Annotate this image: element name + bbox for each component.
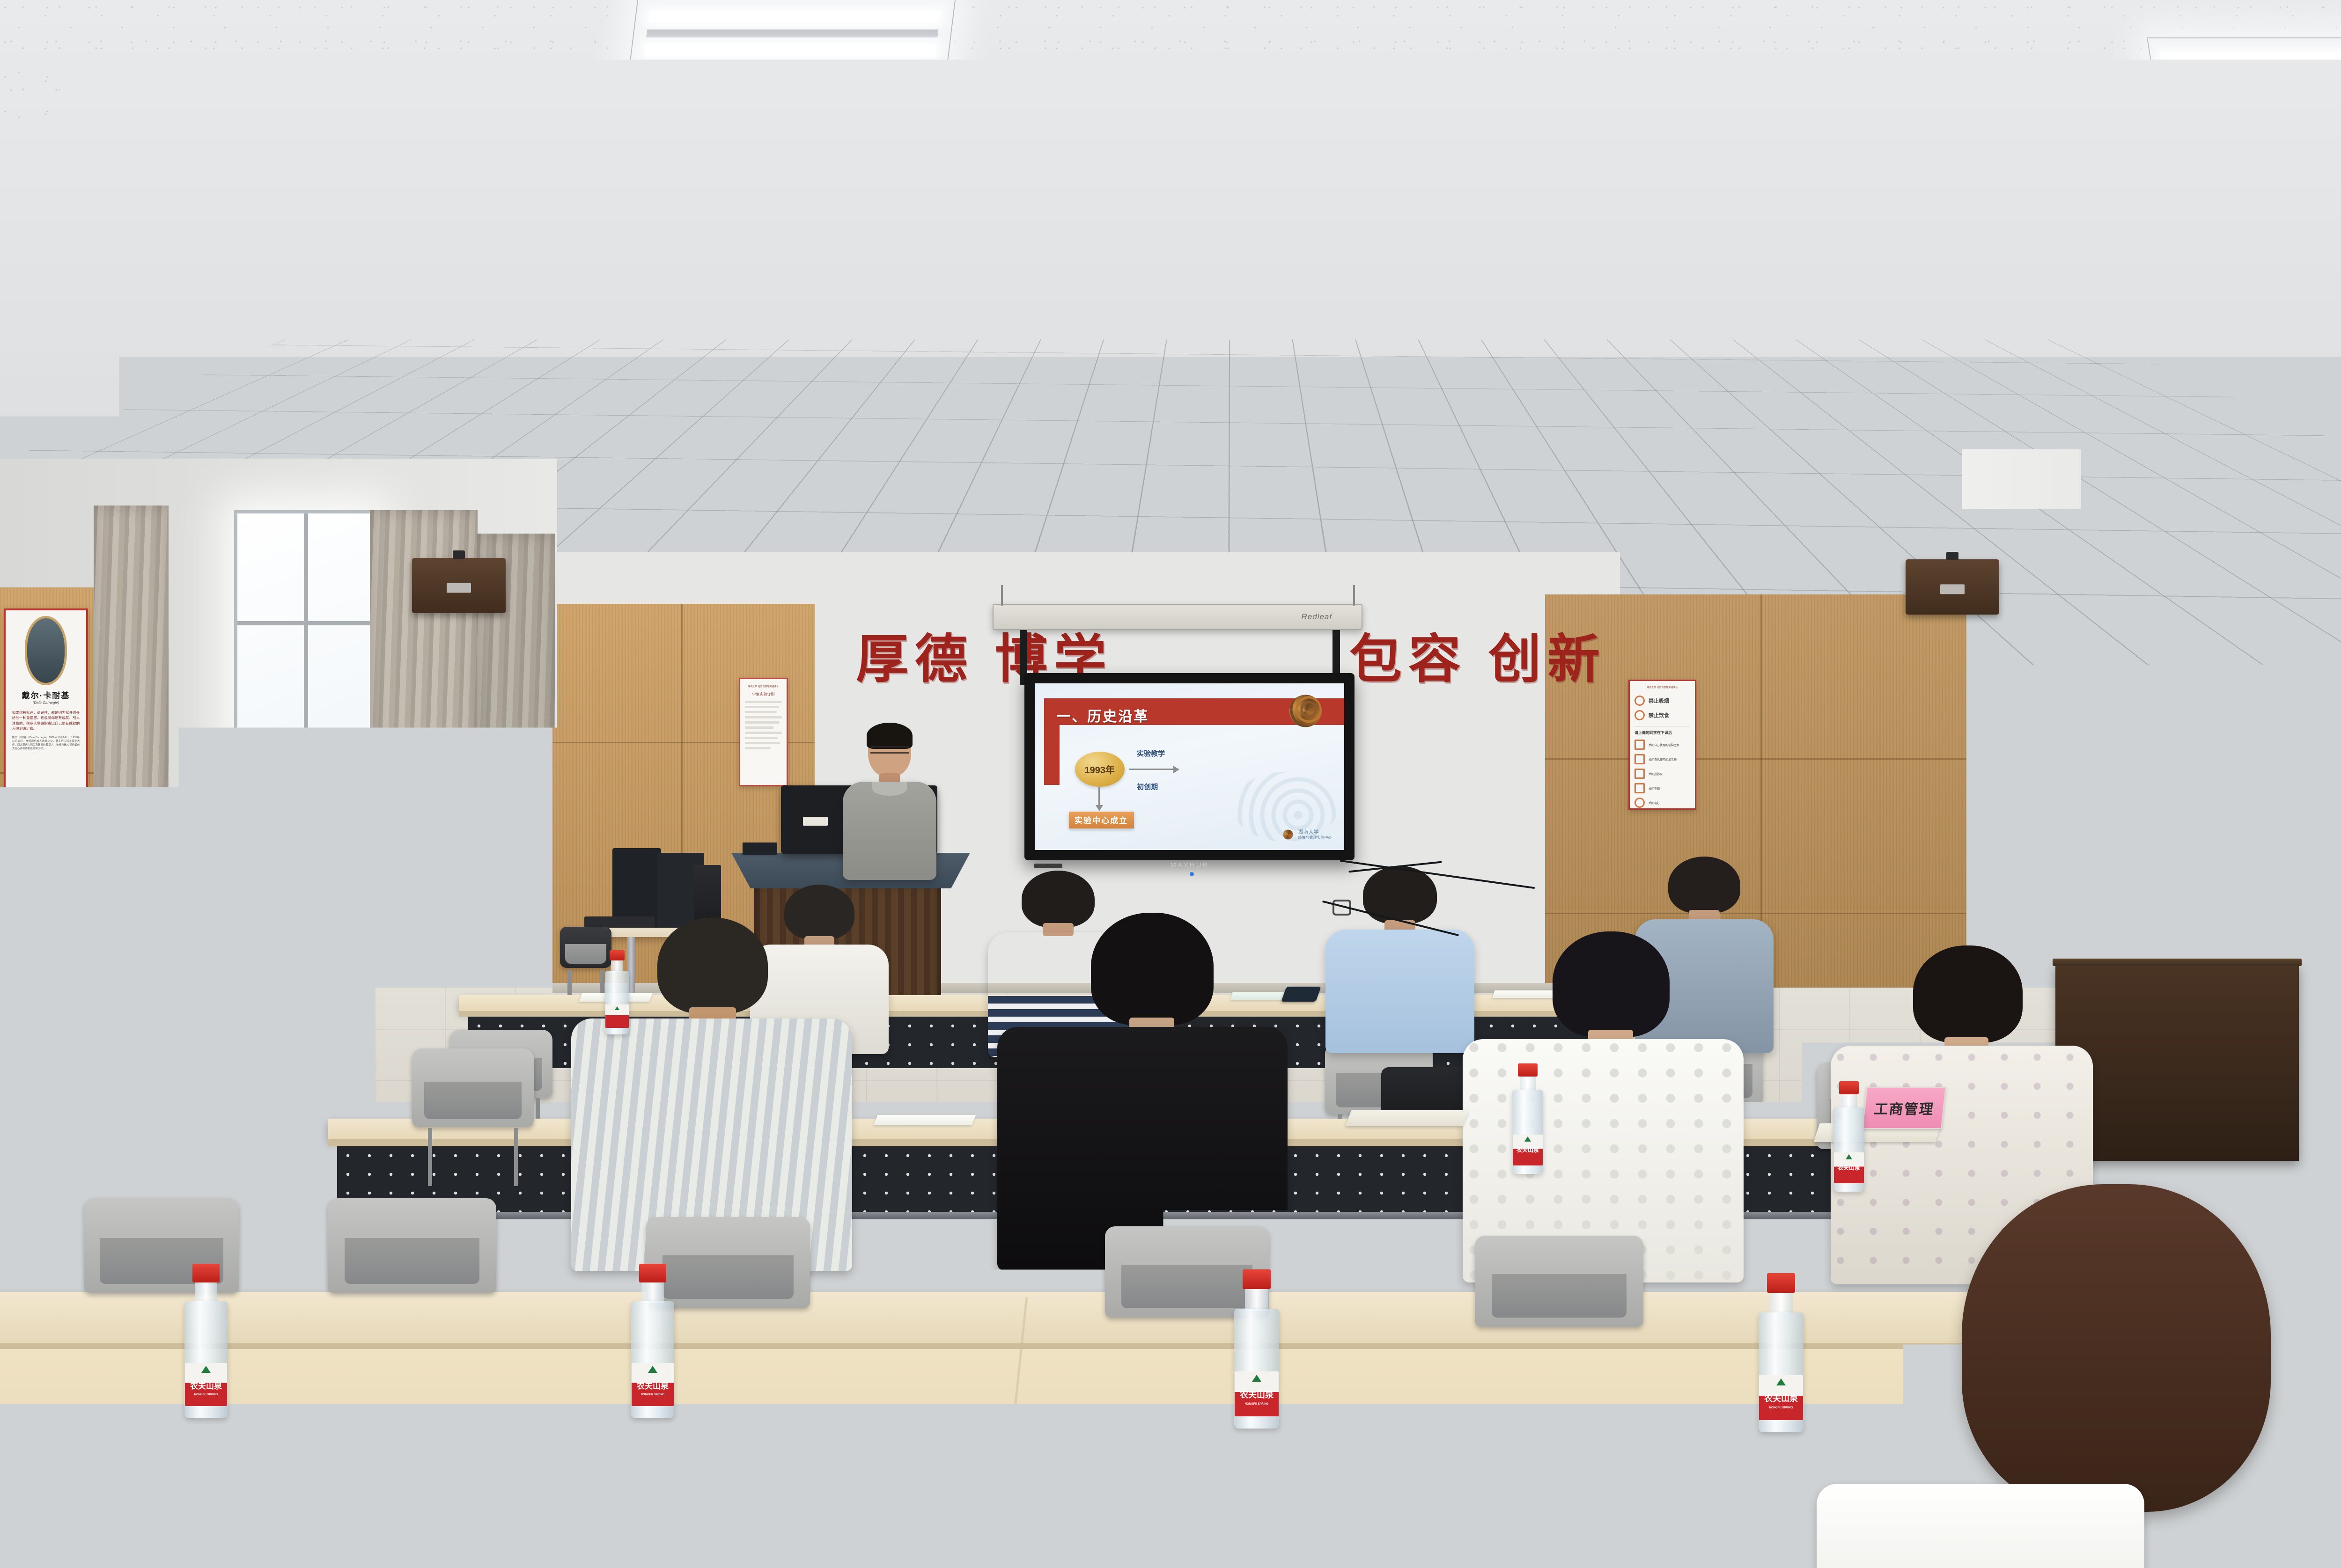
presenter: [838, 725, 941, 879]
bottle-brand-cn: 农夫山泉: [190, 1379, 222, 1391]
attendee-hair: [1553, 931, 1670, 1037]
screen-hook: [1353, 585, 1355, 606]
attendee-light-blue-shirt: [1325, 866, 1475, 1053]
attendee-hair: [1913, 945, 2023, 1043]
bottle-neck: [1520, 1077, 1536, 1091]
chair-middle-row[interactable]: [412, 1048, 534, 1189]
wall-speaker-left: [412, 558, 506, 613]
bottle-neck: [195, 1282, 217, 1303]
rule-item: 关闭空调: [1634, 783, 1690, 793]
notebook: [1346, 1110, 1468, 1126]
slide-footer-sub: 经管与管理实验中心: [1298, 835, 1332, 840]
screen-hook: [1001, 585, 1003, 606]
mountain-logo-icon: [1252, 1375, 1261, 1382]
no-food-icon: [1634, 710, 1645, 720]
bottle-cap: [192, 1264, 220, 1282]
attendee-white-lace-blouse: [1461, 931, 1751, 1278]
presenter-glasses-icon: [870, 746, 909, 754]
presenter-hair: [867, 723, 913, 749]
bottle-brand-en: NONGFU SPRING: [194, 1393, 218, 1396]
university-mark-icon: [1281, 828, 1295, 842]
slide-footer-logo: 湖南大学 经管与管理实验中心: [1281, 828, 1332, 842]
water-bottle[interactable]: [605, 950, 629, 1034]
no-smoking-icon: [1634, 696, 1645, 706]
water-bottle[interactable]: 农夫山泉: [1512, 1063, 1543, 1174]
mountain-logo-icon: [1524, 1136, 1531, 1142]
attendee-front-left-dark-jacket: [0, 889, 290, 1245]
pc-tower-icon: [1634, 740, 1645, 750]
water-bottle[interactable]: 农夫山泉 NONGFU SPRING: [631, 1264, 674, 1418]
notice-title: 学生实验守则: [745, 692, 782, 697]
chair-front-row[interactable]: [1475, 1236, 1643, 1353]
mountain-logo-icon: [1776, 1378, 1786, 1385]
light-bulb-icon: [1634, 798, 1645, 808]
bottle-cap: [610, 950, 625, 960]
slide-footer-org: 湖南大学: [1298, 829, 1332, 835]
presenter-collar: [872, 782, 907, 796]
bottle-brand-cn: 农夫山泉: [637, 1379, 669, 1391]
bottle-neck: [611, 960, 623, 972]
chair-back: [1475, 1236, 1643, 1327]
notice-text-line: [745, 726, 774, 729]
attendee-hair: [657, 917, 768, 1014]
rule-no-smoking: 禁止吸烟: [1634, 696, 1690, 706]
bottle-brand-cn: 农夫山泉: [1516, 1146, 1539, 1154]
carnegie-portrait: [25, 616, 66, 685]
monitor-icon: [1634, 754, 1645, 764]
carnegie-poster: 戴尔·卡耐基 (Dale Carnegie) 如果你被批评，请记住，那是因为批评…: [4, 608, 88, 843]
rule-label: 禁止吸烟: [1649, 697, 1669, 704]
bottle-label: 农夫山泉 NONGFU SPRING: [1759, 1375, 1803, 1420]
notice-text-line: [745, 742, 780, 744]
bottle-cap: [639, 1264, 666, 1282]
ac-side-vent: [1243, 451, 1261, 506]
slide-label-bottom: 初创期: [1137, 782, 1158, 791]
air-conditioner-icon: [1634, 783, 1645, 793]
rule-label: 关闭自己使用的电脑主机: [1649, 743, 1679, 747]
bottle-neck: [1841, 1094, 1857, 1108]
slide-footer-text: 湖南大学 经管与管理实验中心: [1298, 829, 1332, 840]
carnegie-name: 戴尔·卡耐基: [22, 689, 70, 701]
speaker-driver-icon: [447, 583, 471, 593]
wall-speaker-right: [1906, 559, 1999, 615]
side-monitor-1: [612, 848, 661, 928]
rule-no-food: 禁止饮食: [1634, 710, 1690, 720]
bottle-label: 农夫山泉: [1513, 1135, 1543, 1165]
mountain-logo-icon: [648, 1366, 657, 1373]
attendee-torso: [1325, 930, 1474, 1053]
ac-side-vent: [982, 451, 1000, 506]
attendee-hair: [1962, 1184, 2271, 1512]
bottle-cap: [1839, 1081, 1859, 1094]
carnegie-poster-org: 湖南大学 经管与管理实验中心: [27, 832, 65, 836]
rule-item: 关闭自己使用的显示器: [1634, 754, 1690, 764]
bottle-cap: [1767, 1273, 1795, 1293]
bottle-brand-cn: 农夫山泉: [1838, 1164, 1860, 1172]
slide-label-top: 实验教学: [1137, 748, 1165, 758]
ceiling-air-conditioner: [960, 427, 1283, 533]
rule-label: 关闭空调: [1649, 786, 1660, 791]
notice-text-line: [745, 732, 782, 734]
wood-panel-seam: [2172, 843, 2341, 844]
rule-item: 关闭电灯: [1634, 798, 1690, 808]
chair-back: [412, 1048, 534, 1127]
presenter-torso: [843, 782, 936, 880]
window-mullion: [304, 513, 308, 919]
attendee-glasses-icon: [187, 950, 214, 972]
bottle-brand-en: NONGFU SPRING: [641, 1393, 665, 1396]
slide-event-box: 实验中心成立: [1069, 812, 1134, 828]
bottle-cap: [1518, 1063, 1538, 1077]
notice-text-line: [745, 711, 777, 713]
smoke-detector-icon: [937, 523, 962, 535]
attendee-torso: [1817, 1484, 2144, 1568]
rule-label: 关闭自己使用的显示器: [1649, 757, 1677, 762]
ceiling-light-panel: [855, 309, 1140, 388]
slide-arrow-down-icon: [1098, 787, 1100, 810]
carnegie-name-en: (Dale Carnegie): [33, 701, 59, 705]
ceiling-light-panel: [626, 0, 957, 89]
bottle-cap: [1243, 1269, 1271, 1289]
attendee-hair: [1668, 857, 1740, 914]
mountain-logo-icon: [615, 1006, 619, 1010]
mountain-logo-icon: [1846, 1154, 1852, 1159]
slide-title: 一、历史沿革: [1056, 705, 1149, 725]
carnegie-bio: 戴尔·卡耐基（Dale Carnegie，1888年11月24日－1955年11…: [12, 736, 80, 751]
bottle-neck: [1245, 1289, 1268, 1311]
notice-org: 湖南大学 经管与管理实验中心: [745, 685, 782, 688]
carnegie-quote: 如果你被批评，请记住，那是因为批评你会给他一种重要感，也说明你是有成就、引人注意…: [12, 710, 80, 732]
wall-slogan-right: 包容 创新: [1349, 617, 1606, 693]
rule-label: 关闭电灯: [1649, 801, 1660, 805]
podium-pen-holder: [743, 843, 777, 855]
bottle-neck: [641, 1282, 664, 1303]
speaker-bracket: [453, 550, 465, 559]
notice-text-line: [745, 701, 782, 703]
ceiling-light-panel: [0, 300, 298, 384]
interactive-display[interactable]: 一、历史沿革 1993年 实验教学 初创期 实验中心成立 湖南大学 经管与管理实…: [1024, 673, 1355, 860]
bottle-label: 农夫山泉 NONGFU SPRING: [632, 1363, 674, 1406]
bottle-label: 农夫山泉 NONGFU SPRING: [185, 1363, 227, 1406]
bottle-brand-en: NONGFU SPRING: [1769, 1407, 1793, 1409]
rule-label: 禁止饮食: [1649, 711, 1669, 719]
rule-label: 关闭投影仪: [1649, 772, 1663, 776]
rules-org: 湖南大学 经管与管理实验中心: [1634, 686, 1690, 689]
bottle-neck: [1769, 1293, 1793, 1314]
bottle-brand-cn: 农夫山泉: [1240, 1388, 1274, 1400]
monitor-asset-sticker: [803, 817, 828, 826]
rule-item: 关闭投影仪: [1634, 769, 1690, 779]
chair-front-row[interactable]: [328, 1198, 496, 1320]
wood-panel-seam: [1545, 758, 1966, 760]
name-card: 工商管理: [1862, 1087, 1946, 1129]
water-bottle[interactable]: 农夫山泉: [1833, 1081, 1864, 1192]
student-rules-notice: 湖南大学 经管与管理实验中心 学生实验守则: [739, 678, 788, 786]
notice-text-line: [745, 716, 782, 718]
chair-leg: [428, 1128, 432, 1186]
speaker-driver-icon: [1940, 584, 1965, 594]
speaker-bracket: [1946, 552, 1958, 560]
notice-text-line: [745, 747, 771, 749]
attendee-black-lace-jacket: [1002, 913, 1302, 1268]
ac-outlet-slot: [1012, 434, 1230, 446]
university-logo-icon: [1279, 692, 1332, 730]
bottle-label: 农夫山泉: [1834, 1152, 1864, 1183]
rule-item: 关闭自己使用的电脑主机: [1634, 740, 1690, 750]
classroom-scene: 厚德 博学 包容 创新 Redleaf 一、历史沿革 1993年 实验教学 初创…: [0, 0, 2341, 1568]
slide-year-node: 1993年: [1075, 752, 1125, 787]
ceiling-light-panel: [2147, 37, 2341, 126]
ac-grille: [1006, 449, 1237, 509]
display-indicator-strip: [1034, 864, 1062, 868]
notice-text-line: [745, 721, 780, 724]
rules-section-title: 请上课的同学在下课后: [1634, 730, 1690, 735]
display-brand-label: MAXHUB: [1170, 861, 1208, 869]
water-bottle[interactable]: 农夫山泉 NONGFU SPRING: [184, 1264, 228, 1418]
ceiling-light-panel: [1807, 300, 2107, 384]
projector-icon: [1634, 769, 1645, 779]
slide-title-bar-edge: [1044, 725, 1060, 785]
bottle-label: 农夫山泉 NONGFU SPRING: [1235, 1371, 1279, 1416]
bottle-label: [605, 1004, 629, 1028]
chair-leg: [514, 1128, 518, 1186]
water-bottle[interactable]: 农夫山泉 NONGFU SPRING: [1759, 1273, 1804, 1432]
room-rules-poster: 湖南大学 经管与管理实验中心 禁止吸烟 禁止饮食 请上课的同学在下课后 关闭自己…: [1628, 680, 1696, 810]
table-row-3-front: [0, 1292, 1971, 1343]
paper-sheet: [874, 1115, 976, 1125]
bottle-brand-cn: 农夫山泉: [1764, 1392, 1798, 1404]
table-row-3-front-panel: [0, 1349, 1971, 1568]
display-power-led-icon: [1190, 872, 1194, 876]
water-bottle[interactable]: 农夫山泉 NONGFU SPRING: [1234, 1269, 1279, 1429]
attendee-hair: [1091, 913, 1214, 1025]
rules-divider: [1634, 726, 1690, 726]
attendee-foreground-brown-hair: [1934, 1184, 2308, 1568]
mountain-logo-icon: [201, 1366, 211, 1373]
chair-back: [328, 1198, 496, 1293]
projection-screen-housing: Redleaf: [993, 604, 1362, 630]
slide-canvas: 一、历史沿革 1993年 实验教学 初创期 实验中心成立 湖南大学 经管与管理实…: [1035, 683, 1344, 850]
notice-text-line: [745, 706, 779, 708]
bottle-brand-en: NONGFU SPRING: [1245, 1403, 1269, 1406]
notice-text-line: [745, 737, 778, 739]
screen-brand-label: Redleaf: [1302, 612, 1332, 622]
slide-arrow-right-icon: [1129, 769, 1179, 770]
window: [234, 510, 375, 922]
